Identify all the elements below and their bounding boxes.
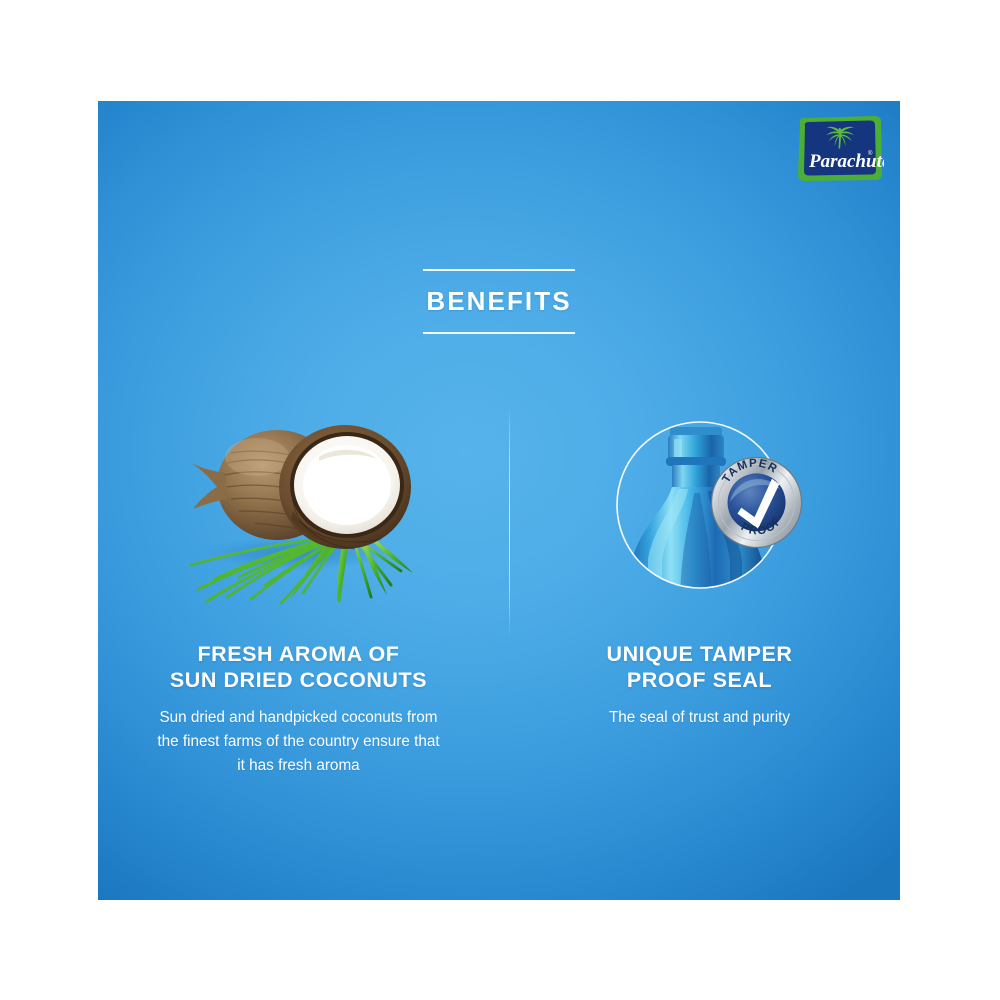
- parachute-logo[interactable]: Parachute ®: [796, 115, 884, 183]
- benefit-heading: UNIQUE TAMPER PROOF SEAL: [607, 641, 793, 693]
- logo-registered-icon: ®: [868, 150, 873, 157]
- page-title: BENEFITS: [98, 271, 900, 332]
- benefit-heading: FRESH AROMA OF SUN DRIED COCONUTS: [170, 641, 427, 693]
- benefits-columns: FRESH AROMA OF SUN DRIED COCONUTS Sun dr…: [98, 401, 900, 778]
- benefits-heading-block: BENEFITS: [98, 269, 900, 334]
- heading-rule-bottom: [423, 332, 575, 334]
- poster-canvas: Parachute ® BENEFITS: [0, 0, 1000, 1000]
- coconut-image: [169, 401, 429, 633]
- benefits-panel: Parachute ® BENEFITS: [98, 101, 900, 900]
- bottle-collar: [666, 457, 726, 466]
- tamper-proof-bottle-image: TAMPER PROOF: [570, 401, 830, 633]
- benefit-item-tamper-proof: TAMPER PROOF UNIQUE TAMPER PROOF SEAL Th…: [499, 401, 900, 778]
- benefit-description: The seal of trust and purity: [609, 706, 790, 730]
- benefit-item-fresh-aroma: FRESH AROMA OF SUN DRIED COCONUTS Sun dr…: [98, 401, 499, 778]
- benefit-description: Sun dried and handpicked coconuts from t…: [157, 706, 439, 777]
- half-coconut: [279, 425, 411, 549]
- bottle-neck: [672, 465, 720, 489]
- logo-wordmark: Parachute: [808, 151, 884, 172]
